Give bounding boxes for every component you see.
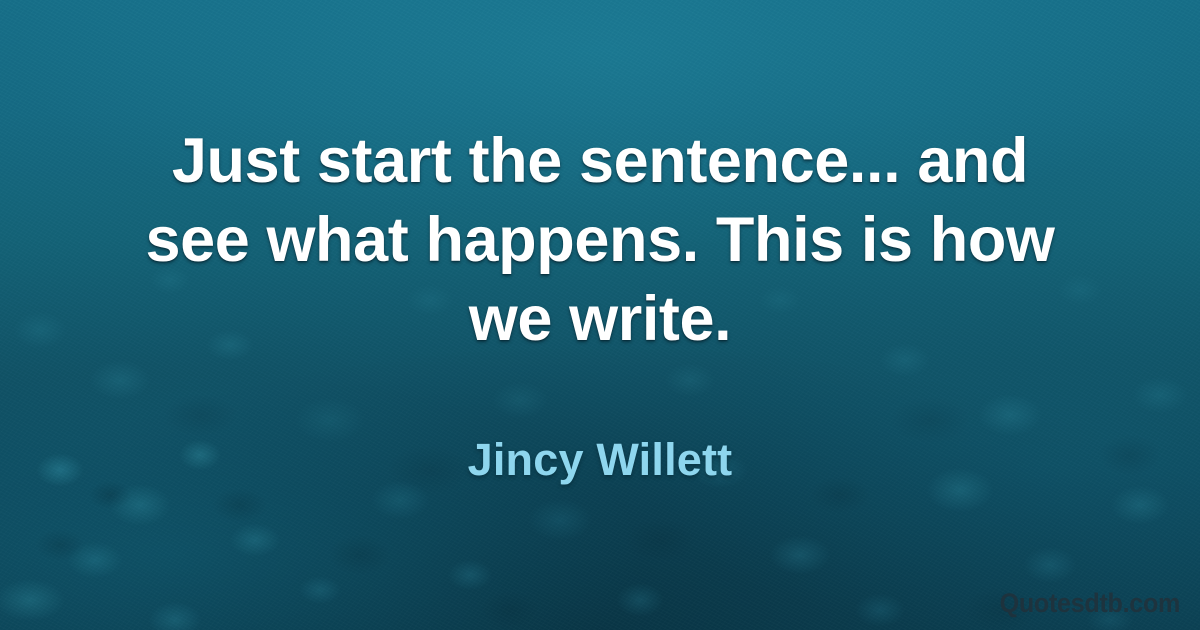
quote-line-1: Just start the sentence... and — [60, 122, 1140, 201]
card-content: Just start the sentence... and see what … — [0, 0, 1200, 630]
author-name: Jincy Willett — [60, 432, 1140, 488]
quote-text-block: Just start the sentence... and see what … — [60, 122, 1140, 359]
site-watermark: Quotesdtb.com — [999, 588, 1180, 618]
quote-line-2: see what happens. This is how — [60, 201, 1140, 280]
quote-line-3: we write. — [60, 280, 1140, 359]
quote-card: Just start the sentence... and see what … — [0, 0, 1200, 630]
